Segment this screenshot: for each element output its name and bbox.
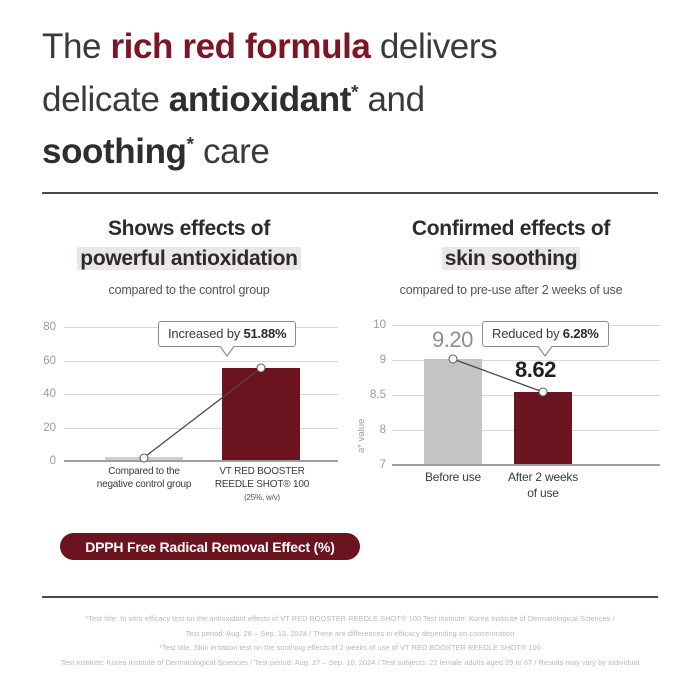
footnote-line-4: Test institute: Korea Institute of Derma… [20,656,680,671]
badge-dpph-effect: DPPH Free Radical Removal Effect (%) [60,533,360,560]
panel-title-highlight: powerful antioxidation [77,247,300,270]
headline-line3: soothing* care [42,132,269,171]
datapoint-control-group [140,453,149,462]
chart-a-value: 10 9 8.5 8 7 a* value 9.20 8.62 Reduced … [352,313,670,513]
panel-soothing: Confirmed effects of skin soothing compa… [352,214,670,513]
value-label-before: 9.20 [432,327,473,353]
callout-value-increase: 51.88% [243,326,286,341]
headline-emphasis-soothing: soothing [42,132,187,171]
datapoint-vt-red-booster [257,364,266,373]
badge-label: DPPH Free Radical Removal Effect (%) [85,539,335,555]
datapoint-before-use [449,355,458,364]
panel-title-soothing: Confirmed effects of skin soothing [352,214,670,274]
infographic-page: The rich red formula delivers delicate a… [0,0,700,700]
callout-tail-right-inner [537,344,553,355]
footnote-line-3: *Test title: Skin irritation test on the… [20,641,680,656]
footnote-marker-soothing: * [187,135,194,156]
footnote-line-1: *Test title: In vitro efficacy test on t… [20,612,680,627]
headline-line2: delicate antioxidant* and [42,80,425,119]
callout-value-reduction: 6.28% [563,326,599,341]
divider-bottom [42,596,658,598]
callout-increased-by: Increased by 51.88% [158,321,296,347]
headline-emphasis-antioxidant: antioxidant [169,80,351,119]
footnotes: *Test title: In vitro efficacy test on t… [20,612,680,670]
datapoint-after-2-weeks [539,388,548,397]
chart-dpph: 80 60 40 20 0 Increased by 51.88% [30,313,348,513]
panel-subtitle-soothing: compared to pre-use after 2 weeks of use [352,283,670,297]
panel-title-highlight-soothing: skin soothing [442,247,581,270]
divider-top [42,192,658,194]
panel-antioxidation: Shows effects of powerful antioxidation … [30,214,348,513]
headline-emphasis-red: rich red formula [110,27,370,66]
footnote-line-2: Test period: Aug. 26 – Sep. 13, 2024 / T… [20,627,680,642]
headline-line1: The rich red formula delivers [42,27,497,66]
value-label-after: 8.62 [515,357,556,383]
page-headline: The rich red formula delivers delicate a… [42,24,662,175]
callout-tail-inner [219,344,235,355]
callout-reduced-by: Reduced by 6.28% [482,321,609,347]
panel-title-antioxidation: Shows effects of powerful antioxidation [30,214,348,274]
panel-subtitle-antioxidation: compared to the control group [30,283,348,297]
